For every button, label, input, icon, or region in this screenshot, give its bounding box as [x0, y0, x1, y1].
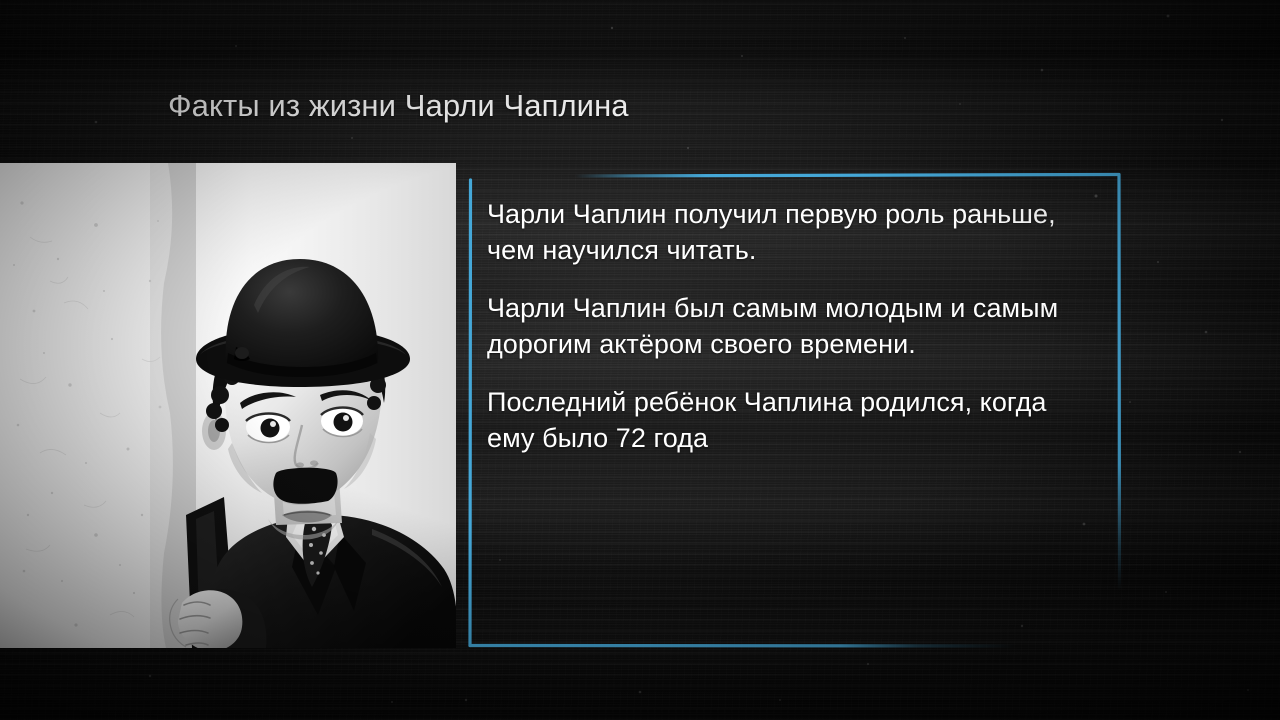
- slide: Факты из жизни Чарли Чаплина: [0, 0, 1280, 720]
- background-vignette: [0, 0, 1280, 720]
